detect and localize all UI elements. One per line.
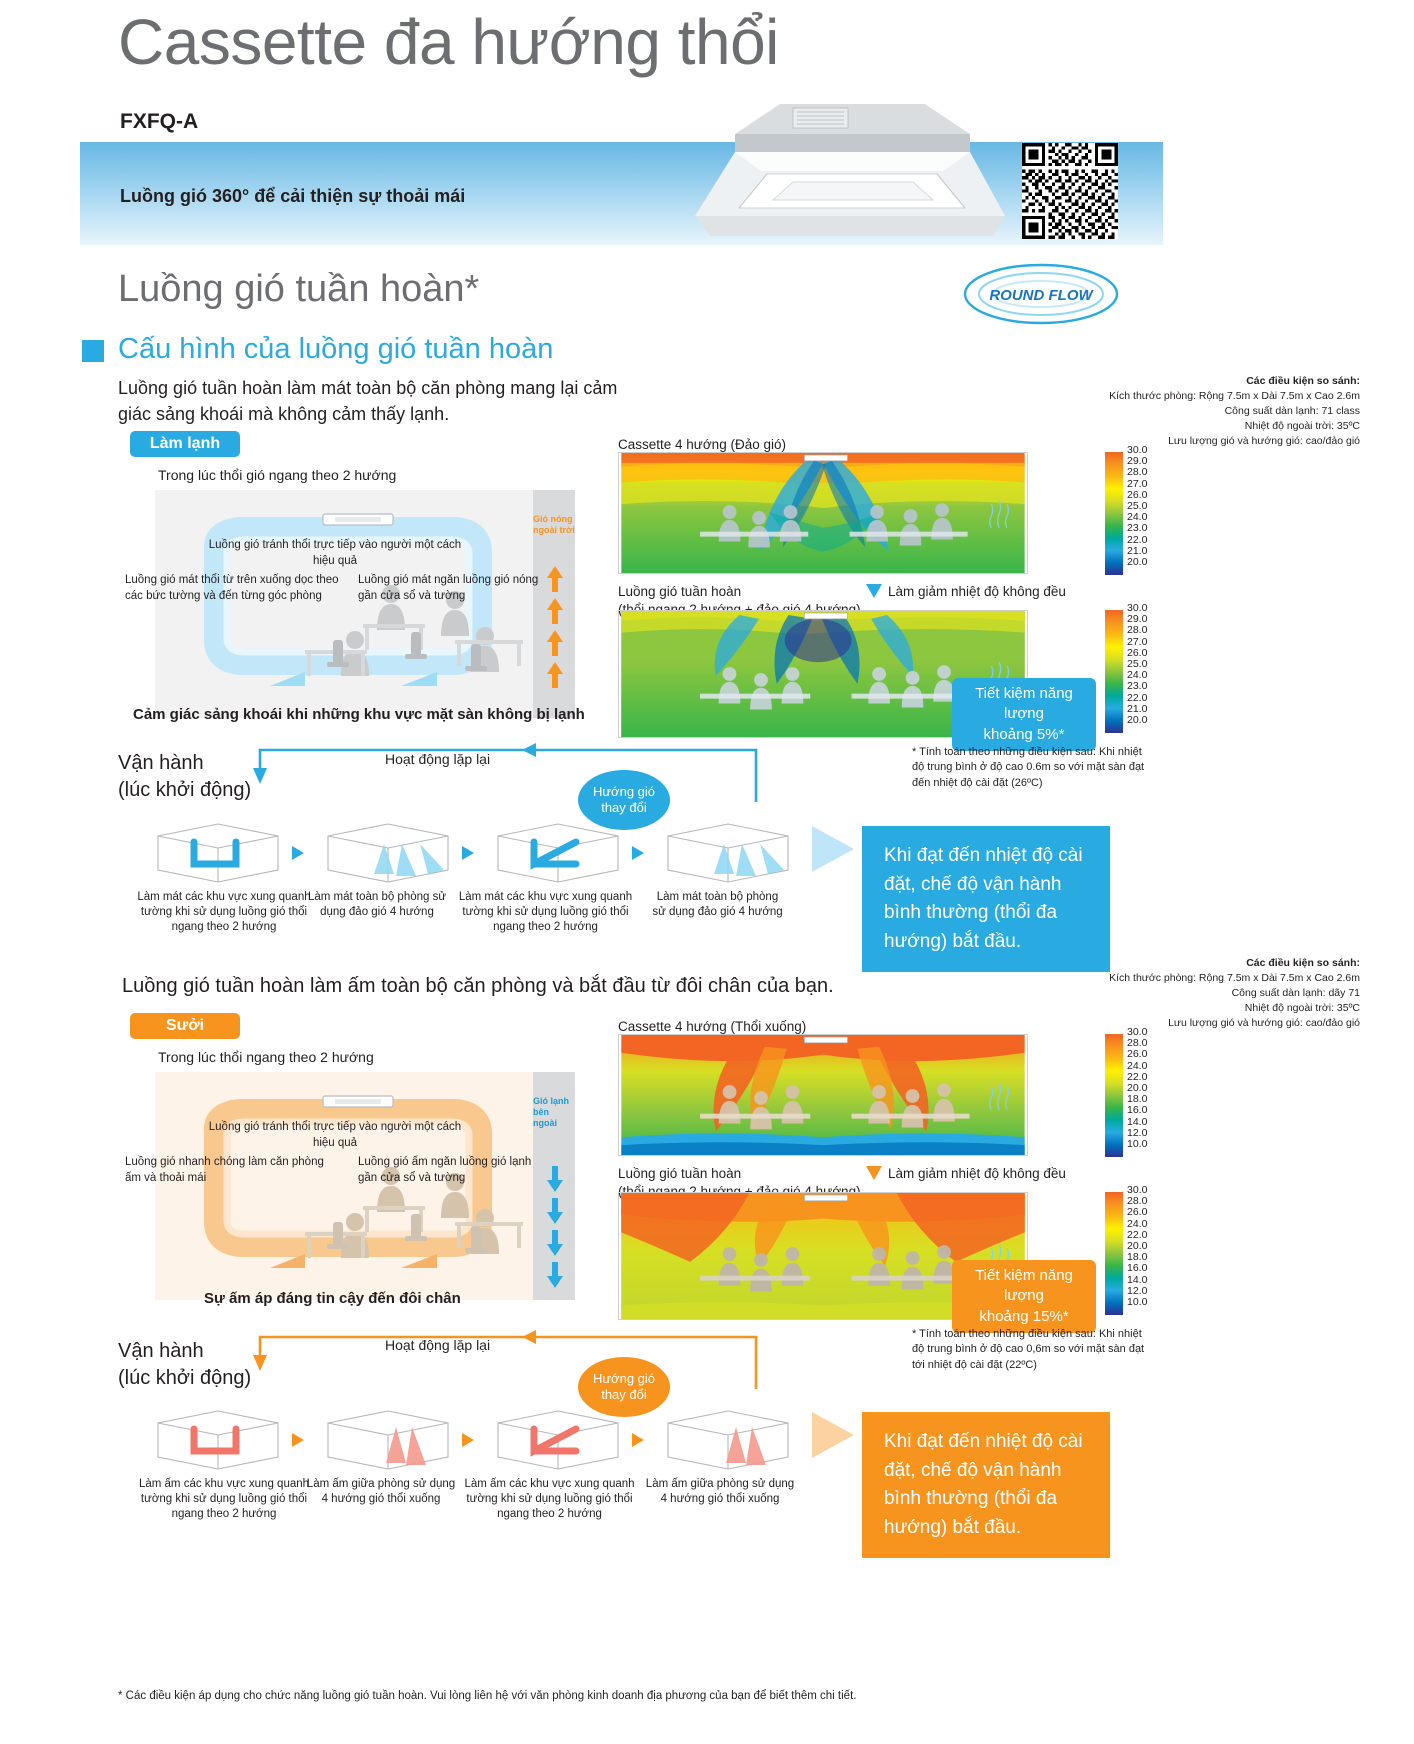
heating-legend-1: 30.0 28.0 26.0 24.0 22.0 20.0 18.0 16.0 … bbox=[1105, 1034, 1123, 1157]
heating-result-arrow-icon bbox=[812, 1412, 854, 1458]
heating-illus-mid-label: Luồng gió ấm ngăn luồng gió lạnh gần cửa… bbox=[358, 1155, 548, 1186]
heating-energy-saving-badge: Tiết kiệm năng lượng khoảng 15%* bbox=[952, 1260, 1096, 1333]
heating-heatmap1 bbox=[618, 1034, 1028, 1156]
cooling-legend-bar-2 bbox=[1105, 610, 1123, 733]
heating-illus-left-label: Luồng gió nhanh chóng làm căn phòng ấm v… bbox=[125, 1155, 340, 1186]
heating-condition-0: Kích thước phòng: Rộng 7.5m x Dài 7.5m x… bbox=[900, 971, 1360, 986]
heating-note: * Tính toán theo những điều kiện sau: Kh… bbox=[912, 1327, 1152, 1373]
ceiling-cassette-unit-photo bbox=[675, 96, 1005, 256]
cooling-result-text: Khi đạt đến nhiệt độ cài đặt, chế độ vận… bbox=[862, 826, 1110, 972]
cooling-step-1: Làm mát toàn bộ phòng sử dụng đảo gió 4 … bbox=[302, 890, 452, 920]
heating-legend-ticks-1: 30.0 28.0 26.0 24.0 22.0 20.0 18.0 16.0 … bbox=[1127, 1027, 1147, 1150]
cooling-step-0: Làm mát các khu vực xung quanh tường khi… bbox=[124, 890, 324, 935]
cooling-conditions-title: Các điều kiện so sánh: bbox=[900, 374, 1360, 389]
cooling-heatmap1 bbox=[618, 452, 1028, 574]
cooling-step-2: Làm mát các khu vực xung quanh tường khi… bbox=[458, 890, 633, 935]
cooling-uneven-note: Làm giảm nhiệt độ không đều bbox=[888, 583, 1066, 601]
legend-tick: 28.0 bbox=[1127, 467, 1147, 478]
heating-illus-caption: Sự ấm áp đáng tin cậy đến đôi chân bbox=[204, 1290, 461, 1307]
legend-tick: 10.0 bbox=[1127, 1297, 1147, 1308]
down-arrow-icon-cooling bbox=[866, 584, 882, 598]
heating-condition-2: Nhiệt độ ngoài trời: 35ºC bbox=[900, 1001, 1360, 1016]
down-arrow-icon-heating bbox=[866, 1166, 882, 1180]
section-subtitle: Luồng gió tuần hoàn* bbox=[118, 268, 479, 311]
mode-pill-cooling: Làm lạnh bbox=[130, 431, 240, 457]
round-flow-logo: ROUND FLOW bbox=[962, 262, 1120, 326]
page-footnote: * Các điều kiện áp dụng cho chức năng lu… bbox=[118, 1690, 856, 1702]
legend-tick: 28.0 bbox=[1127, 625, 1147, 636]
heating-condition-1: Công suất dàn lạnh: dãy 71 bbox=[900, 986, 1360, 1001]
bullet-square-icon bbox=[82, 340, 104, 362]
cooling-legend-1: 30.0 29.0 28.0 27.0 26.0 25.0 24.0 23.0 … bbox=[1105, 452, 1123, 575]
brochure-page: Cassette đa hướng thổi FXFQ-A Luồng gió … bbox=[0, 0, 1414, 1744]
heating-conditions-title: Các điều kiện so sánh: bbox=[900, 956, 1360, 971]
heating-lead: Luồng gió tuần hoàn làm ấm toàn bộ căn p… bbox=[122, 975, 834, 998]
heating-flow-steps-diagram bbox=[140, 1405, 820, 1475]
heating-conditions: Các điều kiện so sánh: Kích thước phòng:… bbox=[900, 956, 1360, 1031]
cooling-conditions: Các điều kiện so sánh: Kích thước phòng:… bbox=[900, 374, 1360, 449]
heating-heatmap1-label: Cassette 4 hướng (Thổi xuống) bbox=[618, 1018, 806, 1036]
heating-direction-change-bubble: Hướng gió thay đổi bbox=[578, 1357, 670, 1417]
cooling-illus-heading: Trong lúc thổi gió ngang theo 2 hướng bbox=[158, 467, 396, 483]
qr-code-icon bbox=[1022, 143, 1118, 239]
page-title: Cassette đa hướng thổi bbox=[118, 6, 779, 80]
cooling-illus-center-label: Luồng gió tránh thổi trực tiếp vào người… bbox=[205, 538, 465, 569]
cooling-illus-mid-label: Luồng gió mát ngăn luồng gió nóng gần cử… bbox=[358, 573, 548, 604]
legend-tick: 22.0 bbox=[1127, 535, 1147, 546]
cooling-illus-caption: Cảm giác sảng khoái khi những khu vực mặ… bbox=[133, 706, 585, 723]
heating-step-0: Làm ấm các khu vực xung quanh tường khi … bbox=[124, 1477, 324, 1522]
heating-legend-2: 30.0 28.0 26.0 24.0 22.0 20.0 18.0 16.0 … bbox=[1105, 1192, 1123, 1315]
cooling-legend-bar-1 bbox=[1105, 452, 1123, 575]
legend-tick: 22.0 bbox=[1127, 693, 1147, 704]
cooling-legend-2: 30.0 29.0 28.0 27.0 26.0 25.0 24.0 23.0 … bbox=[1105, 610, 1123, 733]
cooling-legend-ticks-1: 30.0 29.0 28.0 27.0 26.0 25.0 24.0 23.0 … bbox=[1127, 445, 1147, 568]
cooling-operation-title: Vận hành (lúc khởi động) bbox=[118, 750, 251, 804]
legend-tick: 26.0 bbox=[1127, 1207, 1147, 1218]
legend-tick: 10.0 bbox=[1127, 1139, 1147, 1150]
cooling-step-3: Làm mát toàn bộ phòng sử dụng đảo gió 4 … bbox=[650, 890, 785, 920]
cooling-energy-saving-badge: Tiết kiệm năng lượng khoảng 5%* bbox=[952, 678, 1096, 751]
cooling-result-arrow-icon bbox=[812, 826, 854, 872]
heating-operation-title: Vận hành (lúc khởi động) bbox=[118, 1338, 251, 1392]
legend-tick: 14.0 bbox=[1127, 1117, 1147, 1128]
cooling-wall-label: Gió nóng ngoài trời bbox=[533, 514, 575, 536]
cooling-flow-steps-diagram bbox=[140, 818, 820, 888]
heating-illus-center-label: Luồng gió tránh thổi trực tiếp vào người… bbox=[205, 1120, 465, 1151]
legend-tick: 16.0 bbox=[1127, 1105, 1147, 1116]
legend-tick: 23.0 bbox=[1127, 523, 1147, 534]
heating-result-text: Khi đạt đến nhiệt độ cài đặt, chế độ vận… bbox=[862, 1412, 1110, 1558]
heating-uneven-note: Làm giảm nhiệt độ không đều bbox=[888, 1165, 1066, 1183]
legend-tick: 20.0 bbox=[1127, 557, 1147, 568]
cooling-condition-1: Công suất dàn lạnh: 71 class bbox=[900, 404, 1360, 419]
cooling-legend-ticks-2: 30.0 29.0 28.0 27.0 26.0 25.0 24.0 23.0 … bbox=[1127, 603, 1147, 726]
legend-tick: 26.0 bbox=[1127, 1049, 1147, 1060]
legend-tick: 16.0 bbox=[1127, 1263, 1147, 1274]
legend-tick: 23.0 bbox=[1127, 681, 1147, 692]
banner-text: Luồng gió 360° để cải thiện sự thoải mái bbox=[120, 186, 465, 207]
model-code: FXFQ-A bbox=[120, 110, 198, 134]
cooling-condition-2: Nhiệt độ ngoài trời: 35ºC bbox=[900, 419, 1360, 434]
heating-step-1: Làm ấm giữa phòng sử dụng 4 hướng gió th… bbox=[306, 1477, 456, 1507]
heating-legend-bar-2 bbox=[1105, 1192, 1123, 1315]
mode-pill-heating: Sưởi bbox=[130, 1013, 240, 1039]
svg-text:ROUND FLOW: ROUND FLOW bbox=[989, 287, 1094, 304]
cooling-heatmap1-label: Cassette 4 hướng (Đảo gió) bbox=[618, 436, 786, 454]
heating-legend-bar-1 bbox=[1105, 1034, 1123, 1157]
heating-wall-label: Gió lạnh bên ngoài bbox=[533, 1096, 575, 1128]
cooling-illus-left-label: Luồng gió mát thổi từ trên xuống dọc the… bbox=[125, 573, 340, 604]
heating-step-3: Làm ấm giữa phòng sử dụng 4 hướng gió th… bbox=[645, 1477, 795, 1507]
section-lead: Luồng gió tuần hoàn làm mát toàn bộ căn … bbox=[118, 375, 638, 427]
cooling-condition-0: Kích thước phòng: Rộng 7.5m x Dài 7.5m x… bbox=[900, 389, 1360, 404]
heating-legend-ticks-2: 30.0 28.0 26.0 24.0 22.0 20.0 18.0 16.0 … bbox=[1127, 1185, 1147, 1308]
heating-illus-heading: Trong lúc thổi ngang theo 2 hướng bbox=[158, 1049, 374, 1065]
legend-tick: 14.0 bbox=[1127, 1275, 1147, 1286]
cooling-direction-change-bubble: Hướng gió thay đổi bbox=[578, 770, 670, 830]
cooling-note: * Tính toán theo những điều kiện sau: Kh… bbox=[912, 745, 1152, 791]
heating-step-2: Làm ấm các khu vực xung quanh tường khi … bbox=[462, 1477, 637, 1522]
section-heading: Cấu hình của luồng gió tuần hoàn bbox=[118, 333, 553, 366]
legend-tick: 20.0 bbox=[1127, 715, 1147, 726]
